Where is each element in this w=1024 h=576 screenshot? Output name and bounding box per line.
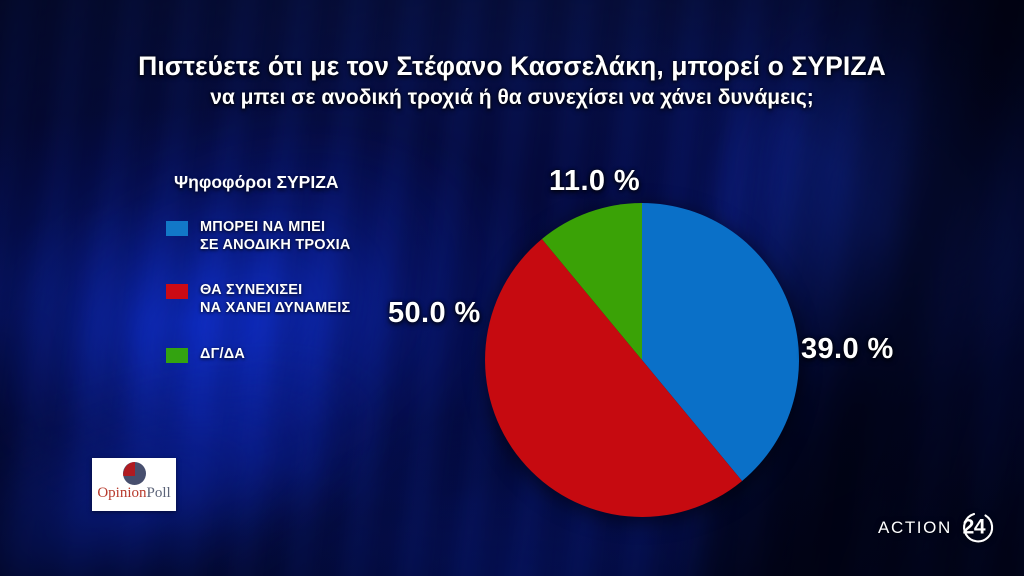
broadcast-poll-graphic: Πιστεύετε ότι με τον Στέφανο Κασσελάκη, … <box>0 0 1024 576</box>
legend-item-can-rise: ΜΠΟΡΕΙ ΝΑ ΜΠΕΙ ΣΕ ΑΝΟΔΙΚΗ ΤΡΟΧΙΑ <box>166 219 351 254</box>
channel-logo-number: 24 <box>954 516 994 540</box>
opinion-poll-pie-icon <box>123 462 146 485</box>
pollster-name-part-1: Opinion <box>97 485 146 501</box>
headline: Πιστεύετε ότι με τον Στέφανο Κασσελάκη, … <box>0 52 1024 109</box>
legend-swatch-red <box>166 284 188 299</box>
opinion-poll-pie-wedge <box>123 462 135 476</box>
legend-swatch-green <box>166 348 188 363</box>
pie-value-keep-losing: 50.0 % <box>388 297 481 330</box>
channel-logo-ring-icon: 24 <box>954 508 994 548</box>
legend-label-can-rise: ΜΠΟΡΕΙ ΝΑ ΜΠΕΙ ΣΕ ΑΝΟΔΙΚΗ ΤΡΟΧΙΑ <box>200 219 351 254</box>
channel-logo-word: ACTION <box>878 518 952 538</box>
legend-swatch-blue <box>166 221 188 236</box>
pie-chart <box>485 203 799 517</box>
pollster-logo: OpinionPoll <box>92 458 176 511</box>
legend: Ψηφοφόροι ΣΥΡΙΖΑ ΜΠΟΡΕΙ ΝΑ ΜΠΕΙ ΣΕ ΑΝΟΔΙ… <box>166 172 351 391</box>
headline-line-1: Πιστεύετε ότι με τον Στέφανο Κασσελάκη, … <box>0 52 1024 80</box>
legend-item-dont-know: ΔΓ/ΔΑ <box>166 346 351 364</box>
legend-item-keep-losing: ΘΑ ΣΥΝΕΧΙΣΕΙ ΝΑ ΧΑΝΕΙ ΔΥΝΑΜΕΙΣ <box>166 282 351 317</box>
pie-value-can-rise: 39.0 % <box>801 333 894 366</box>
legend-label-keep-losing: ΘΑ ΣΥΝΕΧΙΣΕΙ ΝΑ ΧΑΝΕΙ ΔΥΝΑΜΕΙΣ <box>200 282 350 317</box>
pollster-logo-text: OpinionPoll <box>92 486 176 501</box>
headline-line-2: να μπει σε ανοδική τροχιά ή θα συνεχίσει… <box>0 87 1024 109</box>
legend-heading: Ψηφοφόροι ΣΥΡΙΖΑ <box>174 172 351 193</box>
pie-value-dont-know: 11.0 % <box>549 165 640 198</box>
channel-logo: ACTION 24 <box>878 508 994 548</box>
legend-label-dont-know: ΔΓ/ΔΑ <box>200 346 245 364</box>
pollster-name-part-2: Poll <box>146 485 170 501</box>
pie-chart-svg <box>485 203 799 517</box>
